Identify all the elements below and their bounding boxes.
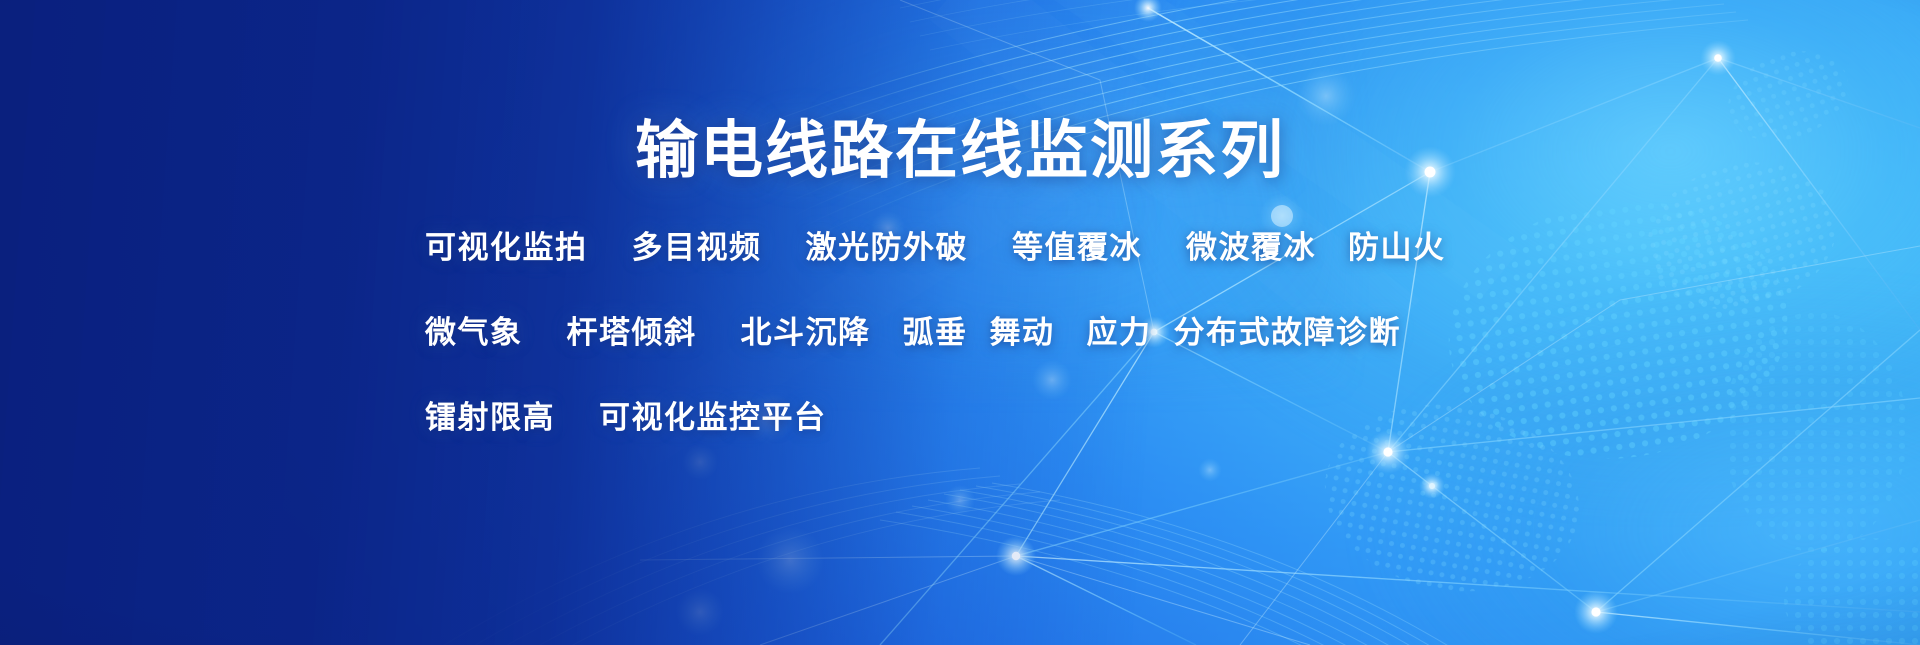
feature-tag-row: 微气象 杆塔倾斜 北斗沉降 弧垂 舞动 应力 分布式故障诊断 — [425, 290, 1605, 375]
hero-banner: 输电线路在线监测系列 可视化监拍 多目视频 激光防外破 等值覆冰 微波覆冰 防山… — [0, 0, 1920, 645]
feature-tag[interactable]: 可视化监拍 — [425, 232, 588, 263]
feature-tag[interactable]: 杆塔倾斜 — [567, 317, 697, 348]
feature-tag[interactable]: 镭射限高 — [425, 402, 555, 433]
feature-tag[interactable]: 激光防外破 — [806, 232, 969, 263]
feature-tag[interactable]: 防山火 — [1348, 232, 1446, 263]
feature-tag-row: 可视化监拍 多目视频 激光防外破 等值覆冰 微波覆冰 防山火 — [425, 205, 1605, 290]
feature-tag[interactable]: 微波覆冰 — [1186, 232, 1316, 263]
banner-content: 输电线路在线监测系列 可视化监拍 多目视频 激光防外破 等值覆冰 微波覆冰 防山… — [0, 0, 1920, 645]
feature-tag[interactable]: 应力 — [1087, 317, 1152, 348]
feature-tag[interactable]: 多目视频 — [632, 232, 762, 263]
feature-tag-row: 镭射限高 可视化监控平台 — [425, 375, 1605, 460]
feature-tag[interactable]: 舞动 — [990, 317, 1055, 348]
feature-tag[interactable]: 等值覆冰 — [1012, 232, 1142, 263]
feature-tag[interactable]: 可视化监控平台 — [599, 402, 827, 433]
banner-title: 输电线路在线监测系列 — [0, 120, 1920, 183]
feature-tag-list: 可视化监拍 多目视频 激光防外破 等值覆冰 微波覆冰 防山火 微气象 杆塔倾斜 … — [425, 205, 1605, 460]
feature-tag[interactable]: 微气象 — [425, 317, 523, 348]
feature-tag[interactable]: 北斗沉降 — [741, 317, 871, 348]
feature-tag[interactable]: 弧垂 — [903, 317, 968, 348]
feature-tag[interactable]: 分布式故障诊断 — [1174, 317, 1402, 348]
